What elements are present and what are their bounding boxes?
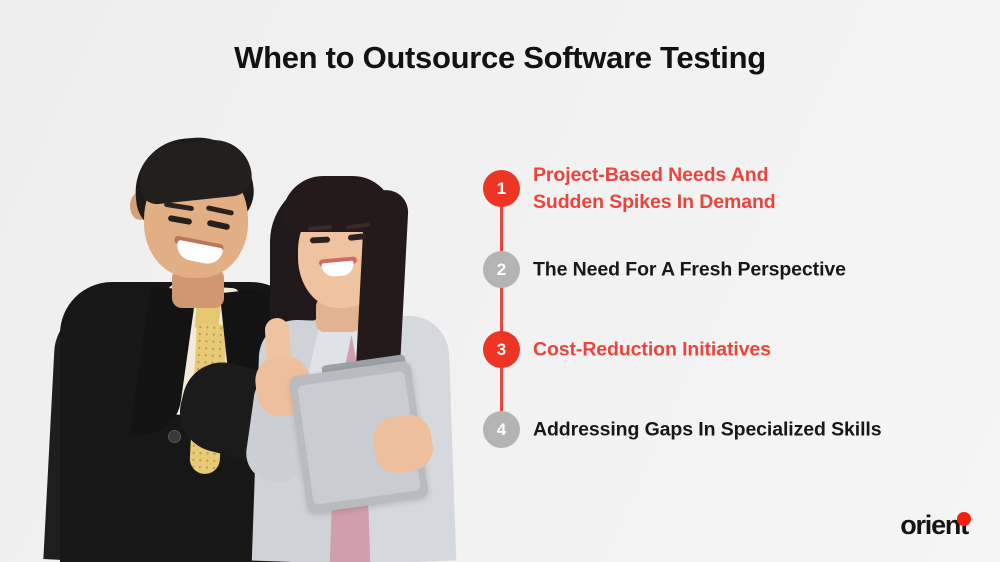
list-item-number-1: 1	[483, 170, 520, 207]
list-item-number-4: 4	[483, 411, 520, 448]
woman-eye-left	[310, 236, 330, 243]
list-item-label-3: Cost-Reduction Initiatives	[533, 337, 771, 364]
list-item-label-1-line1: Project-Based Needs And	[533, 162, 776, 189]
list-item[interactable]: 2 The Need For A Fresh Perspective	[483, 251, 983, 289]
list-item-number-3: 3	[483, 331, 520, 368]
people-photo	[60, 120, 480, 562]
list-item[interactable]: 4 Addressing Gaps In Specialized Skills	[483, 411, 983, 449]
list-item-label-1: Project-Based Needs And Sudden Spikes In…	[533, 162, 776, 216]
list-item[interactable]: 3 Cost-Reduction Initiatives	[483, 331, 983, 369]
list-item-number-2: 2	[483, 251, 520, 288]
page-title: When to Outsource Software Testing	[0, 40, 1000, 76]
numbered-list: 1 Project-Based Needs And Sudden Spikes …	[483, 160, 983, 460]
orient-logo[interactable]: orient	[900, 510, 968, 540]
slide-canvas: When to Outsource Software Testing	[0, 0, 1000, 562]
list-connector-line	[500, 180, 503, 440]
list-item[interactable]: 1 Project-Based Needs And Sudden Spikes …	[483, 170, 983, 208]
logo-dot-icon	[957, 512, 971, 526]
man-hair-front	[136, 136, 253, 205]
man-suit-button	[168, 430, 181, 443]
list-item-label-4: Addressing Gaps In Specialized Skills	[533, 417, 882, 444]
list-item-label-2: The Need For A Fresh Perspective	[533, 257, 846, 284]
list-item-label-1-line2: Sudden Spikes In Demand	[533, 189, 776, 216]
